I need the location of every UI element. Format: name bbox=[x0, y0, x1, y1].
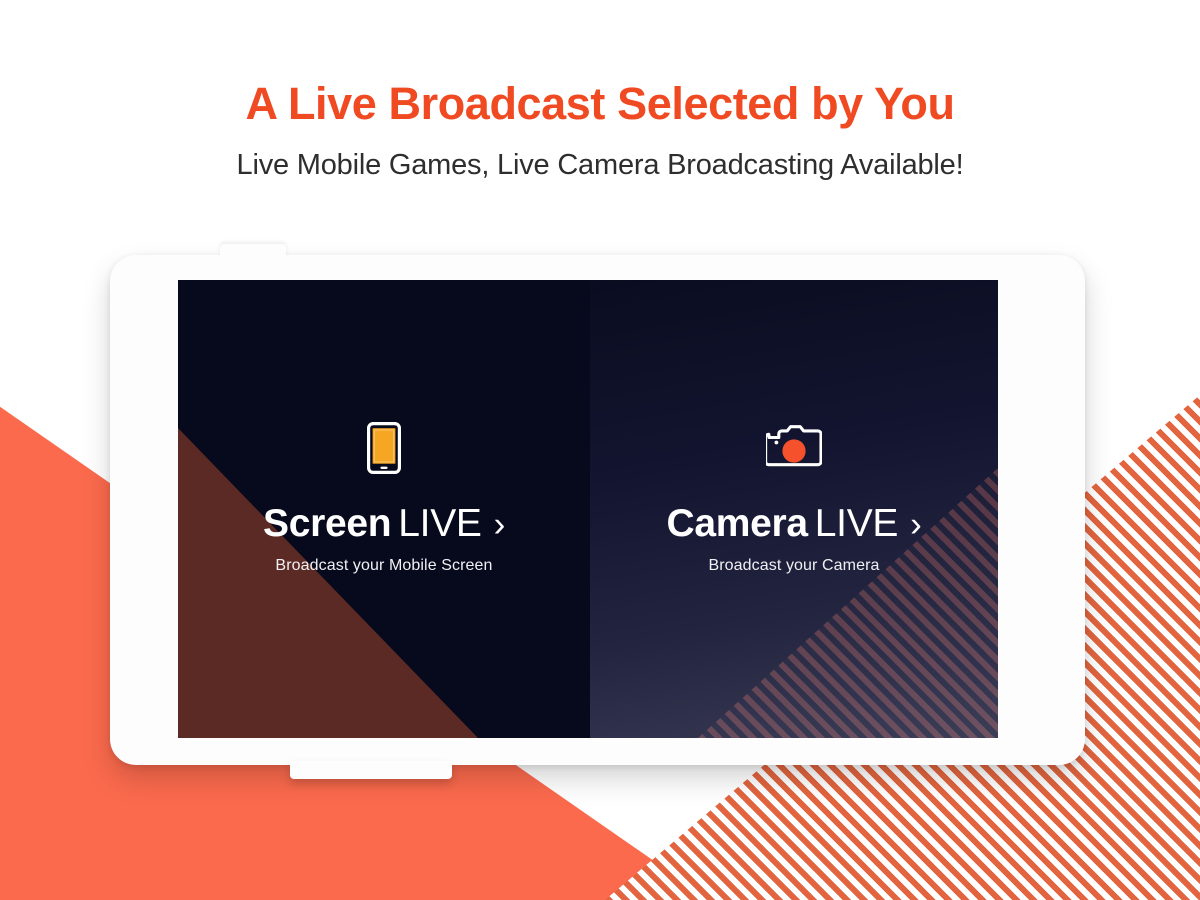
tablet-bottom-tab bbox=[290, 761, 452, 779]
mobile-phone-icon bbox=[367, 422, 401, 474]
panel-screen-live[interactable]: ScreenLIVE› Broadcast your Mobile Screen bbox=[178, 280, 590, 738]
page-subtitle: Live Mobile Games, Live Camera Broadcast… bbox=[0, 149, 1200, 182]
panel-screen-subtitle: Broadcast your Mobile Screen bbox=[275, 557, 492, 575]
panel-camera-title-strong: Camera bbox=[666, 502, 807, 545]
chevron-right-icon: › bbox=[910, 505, 921, 544]
promo-banner: A Live Broadcast Selected by You Live Mo… bbox=[0, 0, 1200, 900]
panel-camera-title: CameraLIVE› bbox=[666, 504, 921, 543]
panel-camera-subtitle: Broadcast your Camera bbox=[708, 557, 879, 575]
panel-screen-title-strong: Screen bbox=[263, 502, 391, 545]
app-panels: ScreenLIVE› Broadcast your Mobile Screen bbox=[178, 280, 998, 738]
chevron-right-icon: › bbox=[494, 505, 505, 544]
panel-screen-title-live: LIVE bbox=[398, 502, 481, 545]
tablet-top-tab bbox=[220, 244, 286, 258]
headline-block: A Live Broadcast Selected by You Live Mo… bbox=[0, 78, 1200, 182]
tablet-device-mockup: ScreenLIVE› Broadcast your Mobile Screen bbox=[110, 255, 1085, 765]
panel-camera-title-live: LIVE bbox=[815, 502, 898, 545]
tablet-screen: ScreenLIVE› Broadcast your Mobile Screen bbox=[178, 280, 998, 738]
panel-camera-live[interactable]: CameraLIVE› Broadcast your Camera bbox=[590, 280, 998, 738]
camera-icon bbox=[766, 422, 822, 474]
panel-screen-title: ScreenLIVE› bbox=[263, 504, 505, 543]
page-title: A Live Broadcast Selected by You bbox=[0, 78, 1200, 130]
